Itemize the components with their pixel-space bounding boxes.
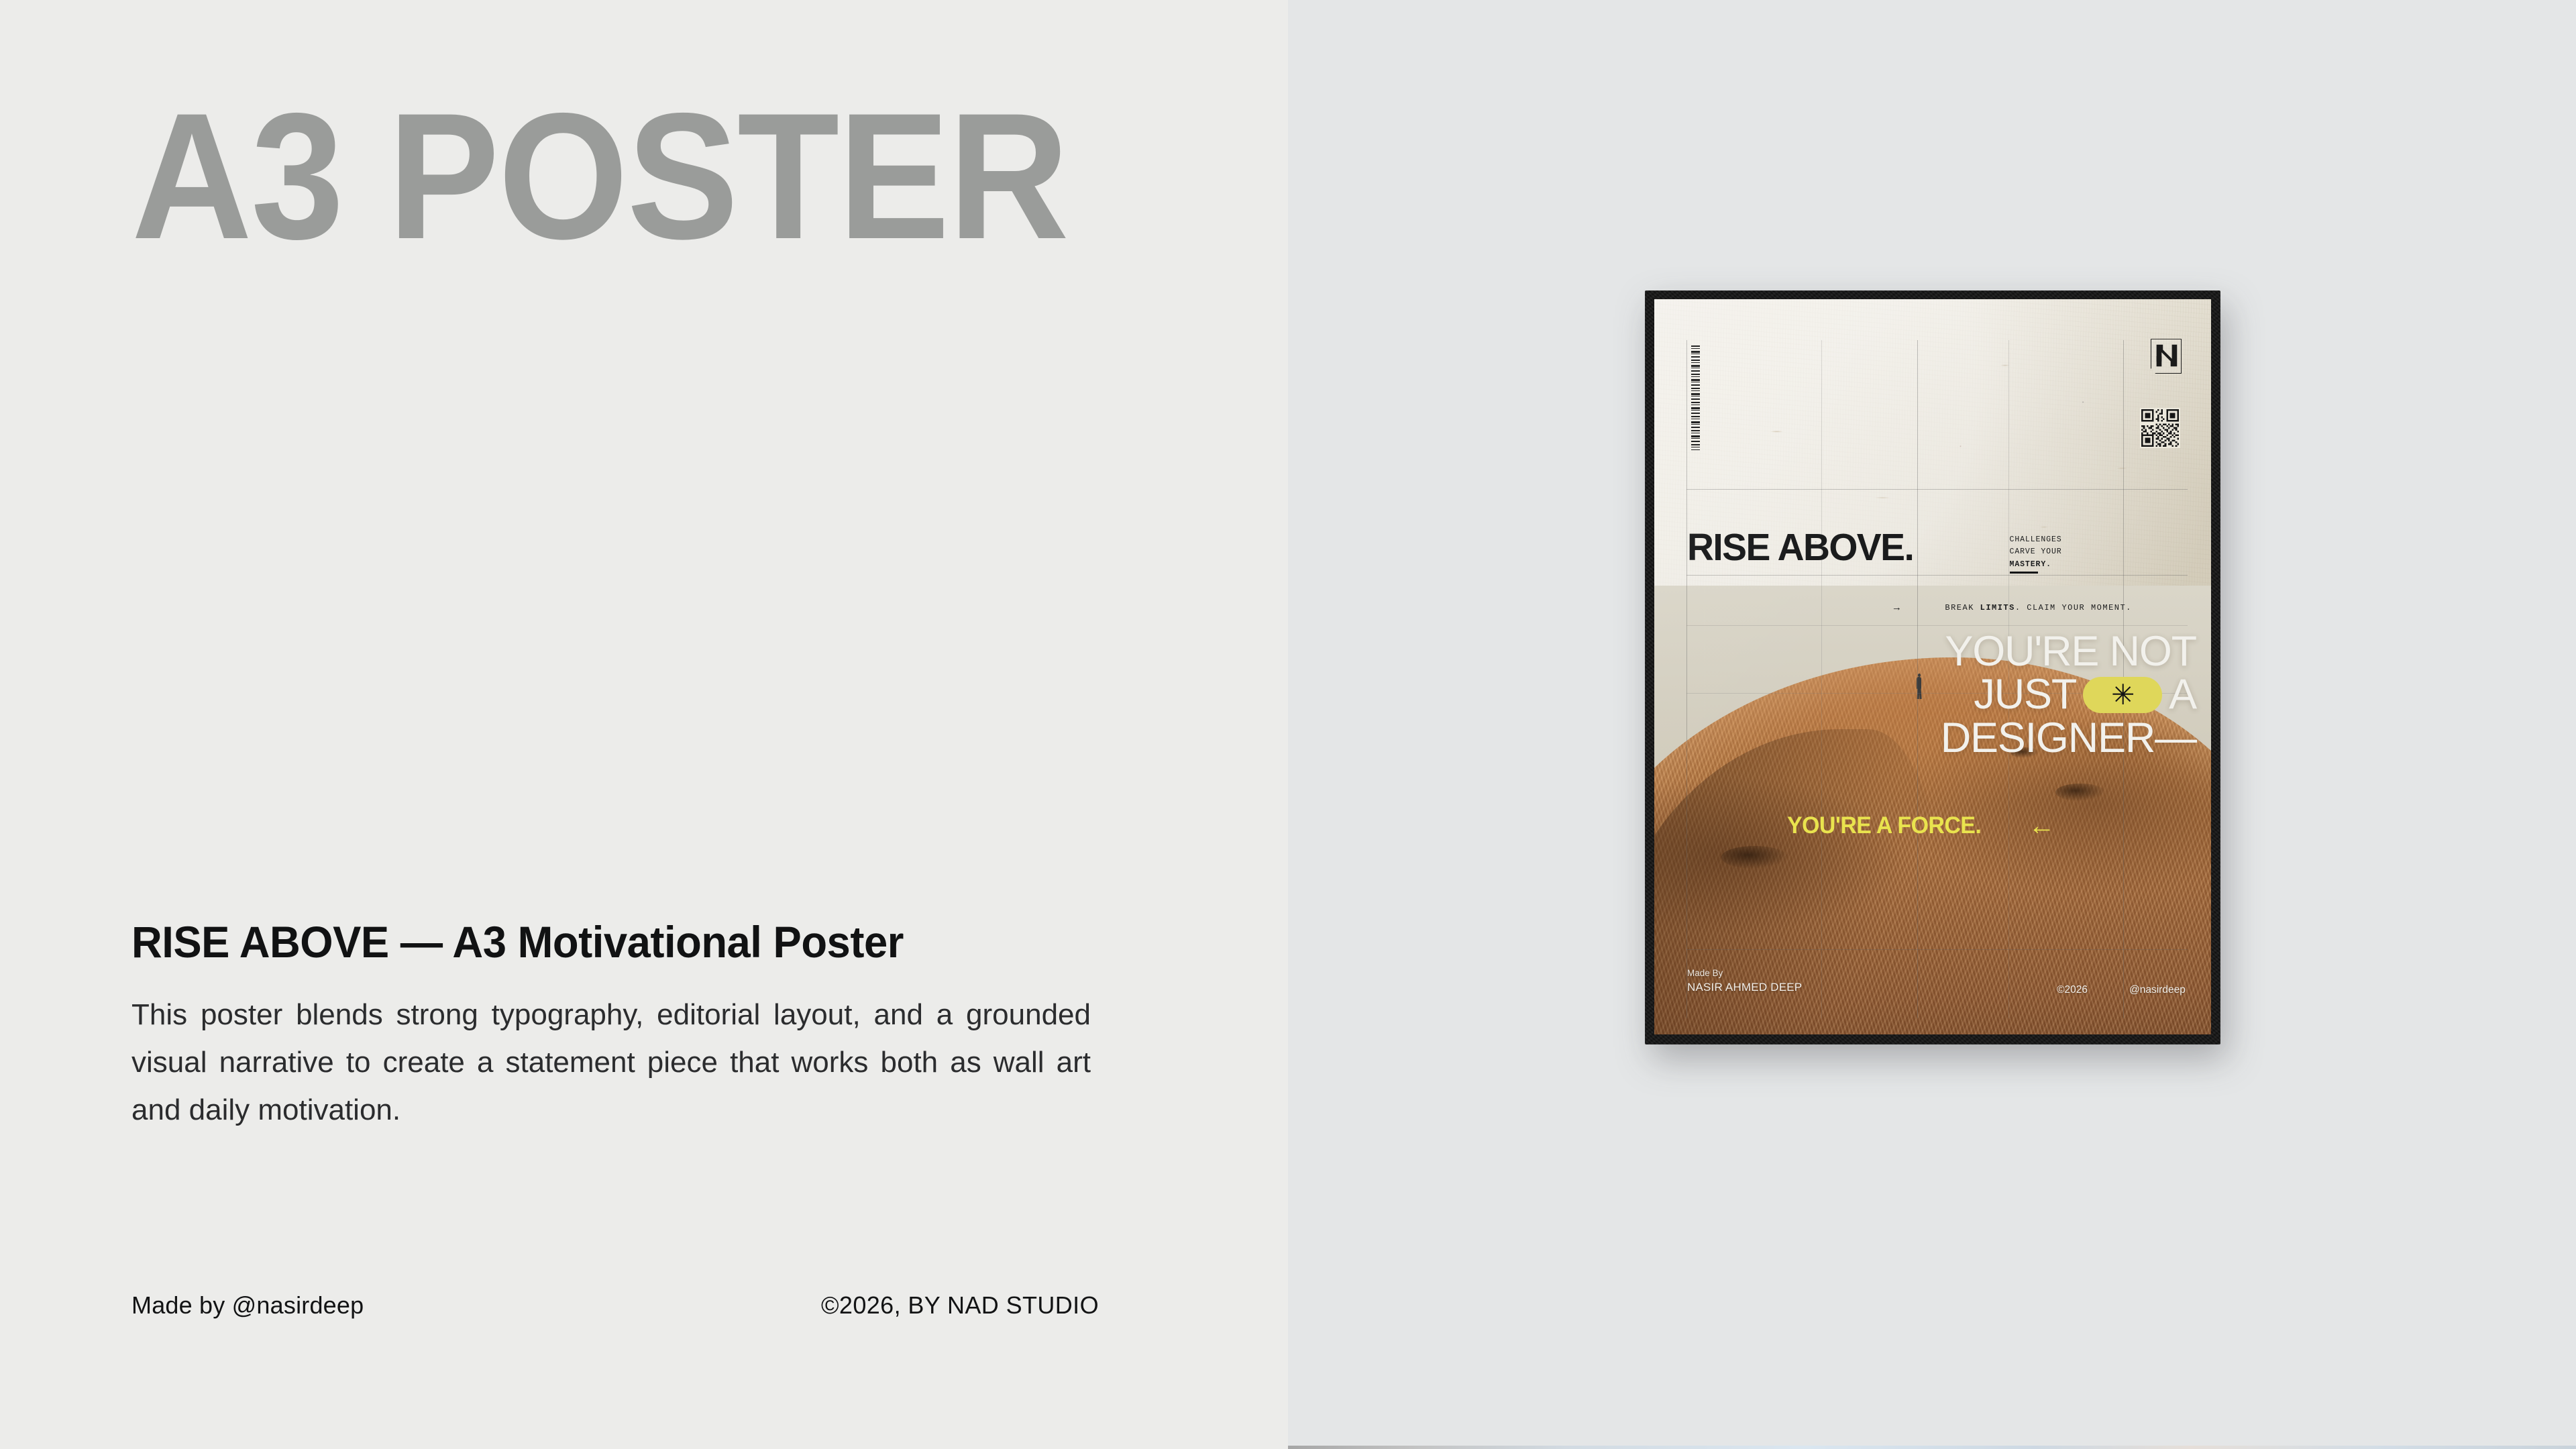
poster-tagline: → BREAK LIMITS. CLAIM YOUR MOMENT. [1894, 603, 2132, 613]
credit-handle: @nasirdeep [2129, 984, 2186, 996]
poster-credit-meta: ©2026 @nasirdeep [2057, 984, 2186, 996]
kicker-lines: CHALLENGES CARVE YOUR [2010, 535, 2062, 557]
project-copy-block: RISE ABOVE — A3 Motivational Poster This… [131, 918, 1097, 1134]
statement-line-3: DESIGNER— [1941, 716, 2196, 759]
poster-force-row: YOU'RE A FORCE. ← [1787, 812, 2055, 839]
qr-code-icon [2140, 408, 2180, 448]
project-description: This poster blends strong typography, ed… [131, 991, 1091, 1134]
arrow-left-icon: ← [2029, 812, 2055, 839]
poster-kicker: CHALLENGES CARVE YOUR MASTERY. [2010, 521, 2062, 572]
right-mockup-panel: RISE ABOVE. CHALLENGES CARVE YOUR MASTER… [1288, 0, 2576, 1449]
barcode-icon [1691, 345, 1700, 450]
poster-content: RISE ABOVE. CHALLENGES CARVE YOUR MASTER… [1654, 299, 2211, 1034]
page-title: A3 POSTER [131, 86, 1068, 266]
framed-poster-mockup: RISE ABOVE. CHALLENGES CARVE YOUR MASTER… [1645, 290, 2220, 1044]
credit-author-name: NASIR AHMED DEEP [1687, 979, 1802, 996]
statement-line-2a: JUST [1974, 673, 2076, 716]
kicker-underline-rule [2010, 572, 2038, 574]
footer: Made by @nasirdeep ©2026, BY NAD STUDIO [131, 1291, 1099, 1320]
project-title: RISE ABOVE — A3 Motivational Poster [131, 918, 1059, 967]
statement-line-2b: A [2169, 673, 2196, 716]
poster-artboard: RISE ABOVE. CHALLENGES CARVE YOUR MASTER… [1654, 299, 2211, 1034]
tagline-post: . CLAIM YOUR MOMENT. [2015, 603, 2132, 612]
arrow-right-icon: → [1894, 603, 1901, 613]
poster-headline: RISE ABOVE. [1687, 529, 1913, 567]
next-slide-preview-sliver [1288, 1446, 2576, 1449]
credit-made-by-label: Made By [1687, 967, 1802, 980]
kicker-bold: MASTERY. [2010, 560, 2051, 569]
statement-line-1: YOU'RE NOT [1945, 630, 2196, 673]
poster-credit-author: Made By NASIR AHMED DEEP [1687, 967, 1802, 996]
tagline-text: BREAK LIMITS. CLAIM YOUR MOMENT. [1945, 603, 2131, 612]
nad-studio-logo-icon [2151, 339, 2182, 374]
left-info-panel: A3 POSTER RISE ABOVE — A3 Motivational P… [0, 0, 1288, 1449]
asterisk-pill-icon: ✳ [2083, 677, 2162, 713]
tagline-bold: LIMITS [1980, 603, 2015, 612]
footer-credit: Made by @nasirdeep [131, 1291, 364, 1320]
credit-copyright: ©2026 [2057, 984, 2088, 996]
tagline-pre: BREAK [1945, 603, 1980, 612]
poster-mockup-slide: A3 POSTER RISE ABOVE — A3 Motivational P… [0, 0, 2576, 1449]
force-text: YOU'RE A FORCE. [1787, 812, 1981, 839]
poster-credits: Made By NASIR AHMED DEEP ©2026 @nasirdee… [1687, 967, 2186, 996]
poster-statement: YOU'RE NOT JUST ✳ A DESIGNER— [1688, 630, 2198, 759]
footer-copyright: ©2026, BY NAD STUDIO [821, 1291, 1099, 1320]
